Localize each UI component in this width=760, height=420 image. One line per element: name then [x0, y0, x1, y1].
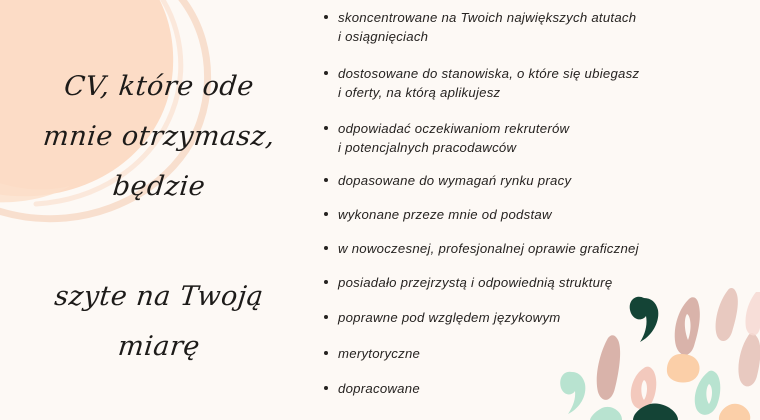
bullet-icon — [324, 71, 328, 75]
benefit-list: skoncentrowane na Twoich największych at… — [322, 0, 742, 420]
bullet-icon — [324, 246, 328, 250]
list-item-line-1: dopracowane — [338, 381, 420, 396]
bullet-icon — [324, 126, 328, 130]
list-item-line-1: wykonane przeze mnie od podstaw — [338, 207, 552, 222]
list-item: odpowiadać oczekiwaniom rekruterów i pot… — [322, 119, 569, 157]
list-item: w nowoczesnej, profesjonalnej oprawie gr… — [322, 239, 639, 258]
list-item-line-1: posiadało przejrzystą i odpowiednią stru… — [338, 275, 612, 290]
tagline-script: szyte na Twoją miarę — [0, 272, 318, 372]
headline-line-1: CV, które ode — [0, 62, 321, 112]
bullet-icon — [324, 15, 328, 19]
list-item: merytoryczne — [322, 344, 420, 363]
list-item: skoncentrowane na Twoich największych at… — [322, 8, 636, 46]
list-item-line-1: dopasowane do wymagań rynku pracy — [338, 173, 571, 188]
list-item-line-1: dostosowane do stanowiska, o które się u… — [338, 66, 639, 81]
tagline-line-2: miarę — [0, 322, 321, 372]
list-item: poprawne pod względem językowym — [322, 308, 561, 327]
bullet-icon — [324, 351, 328, 355]
list-item-line-1: poprawne pod względem językowym — [338, 310, 561, 325]
list-item: dostosowane do stanowiska, o które się u… — [322, 64, 639, 102]
list-item: dopracowane — [322, 379, 420, 398]
list-item-line-2: i osiągnięciach — [338, 27, 636, 46]
headline-script: CV, które ode mnie otrzymasz, będzie — [0, 62, 318, 212]
bullet-icon — [324, 178, 328, 182]
bullet-icon — [324, 315, 328, 319]
tagline-line-1: szyte na Twoją — [0, 272, 321, 322]
poster-canvas: CV, które ode mnie otrzymasz, będzie szy… — [0, 0, 760, 420]
headline-line-2: mnie otrzymasz, — [0, 112, 321, 162]
bullet-icon — [324, 280, 328, 284]
blob-blush-far-right — [745, 292, 760, 336]
bullet-icon — [324, 212, 328, 216]
headline-line-3: będzie — [0, 162, 321, 212]
list-item: dopasowane do wymagań rynku pracy — [322, 171, 571, 190]
bullet-icon — [324, 386, 328, 390]
list-item-line-1: odpowiadać oczekiwaniom rekruterów — [338, 121, 569, 136]
list-item-line-1: skoncentrowane na Twoich największych at… — [338, 10, 636, 25]
list-item-line-2: i potencjalnych pracodawców — [338, 138, 569, 157]
list-item-line-1: w nowoczesnej, profesjonalnej oprawie gr… — [338, 241, 639, 256]
list-item: wykonane przeze mnie od podstaw — [322, 205, 552, 224]
list-item-line-2: i oferty, na którą aplikujesz — [338, 83, 639, 102]
list-item-line-1: merytoryczne — [338, 346, 420, 361]
list-item: posiadało przejrzystą i odpowiednią stru… — [322, 273, 612, 292]
